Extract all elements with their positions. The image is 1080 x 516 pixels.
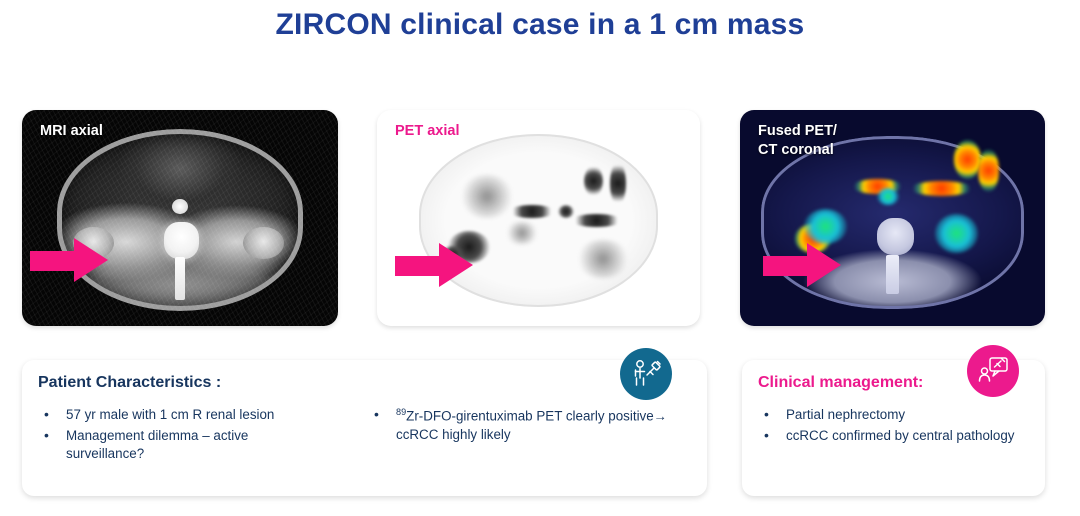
patient-characteristics-bullets: 57 yr male with 1 cm R renal lesion Mana… xyxy=(40,406,330,467)
arrow-shaft xyxy=(30,251,78,271)
image-card-pet-axial[interactable]: PET axial xyxy=(377,110,700,326)
list-item-pet-finding: 89Zr-DFO-girentuximab PET clearly positi… xyxy=(370,406,680,444)
arrow-head xyxy=(807,243,841,287)
patient-consultation-icon xyxy=(967,345,1019,397)
pet-bowel-uptake-5 xyxy=(610,162,626,205)
page-title: ZIRCON clinical case in a 1 cm mass xyxy=(0,8,1080,42)
fused-vertebral-body xyxy=(877,218,914,255)
imaging-finding-bullets: 89Zr-DFO-girentuximab PET clearly positi… xyxy=(370,406,680,447)
clinical-management-heading: Clinical management: xyxy=(758,374,923,392)
fused-spinous-process xyxy=(886,255,898,294)
arrow-head xyxy=(439,243,473,287)
clinical-management-bullets: Partial nephrectomy ccRCC confirmed by c… xyxy=(760,406,1025,448)
fused-lesion-halo xyxy=(804,209,847,244)
fused-left-kidney-uptake xyxy=(935,214,978,253)
fused-bowel-hotspot-3 xyxy=(954,140,981,179)
pet-finding-text: Zr-DFO-girentuximab PET clearly positive… xyxy=(396,408,667,441)
pet-bowel-uptake-2 xyxy=(558,205,574,218)
person-syringe-glyph xyxy=(629,357,663,391)
fused-central-uptake xyxy=(877,188,898,205)
mri-axial-scan-image xyxy=(22,110,338,326)
list-item: 57 yr male with 1 cm R renal lesion xyxy=(40,406,330,424)
arrow-head xyxy=(74,238,108,282)
list-item: Management dilemma – active surveillance… xyxy=(40,427,330,463)
pointer-arrow-fused xyxy=(763,243,841,287)
pet-faint-uptake xyxy=(461,175,513,218)
person-speech-syringe-glyph xyxy=(976,354,1010,388)
pet-axial-scan-image xyxy=(377,110,700,326)
panel-label-mri: MRI axial xyxy=(40,122,103,141)
pet-left-kidney-uptake xyxy=(577,240,629,279)
pet-bowel-uptake-3 xyxy=(571,214,623,227)
list-item: ccRCC confirmed by central pathology xyxy=(760,427,1025,445)
patient-characteristics-box[interactable]: Patient Characteristics : 57 yr male wit… xyxy=(22,360,707,496)
patient-characteristics-heading: Patient Characteristics : xyxy=(38,374,221,392)
ct-noise-texture xyxy=(22,110,338,326)
image-card-mri-axial[interactable]: MRI axial xyxy=(22,110,338,326)
patient-injection-icon xyxy=(620,348,672,400)
isotope-superscript: 89 xyxy=(396,407,406,417)
arrow-shaft xyxy=(763,256,811,276)
pet-bowel-uptake-1 xyxy=(509,205,554,218)
image-card-fused-pet-ct[interactable]: Fused PET/ CT coronal xyxy=(740,110,1045,326)
arrow-shaft xyxy=(395,256,443,276)
panel-label-fused: Fused PET/ CT coronal xyxy=(758,122,837,159)
panel-label-pet: PET axial xyxy=(395,122,459,141)
list-item: Partial nephrectomy xyxy=(760,406,1025,424)
pointer-arrow-mri xyxy=(30,238,108,282)
pointer-arrow-pet xyxy=(395,243,473,287)
